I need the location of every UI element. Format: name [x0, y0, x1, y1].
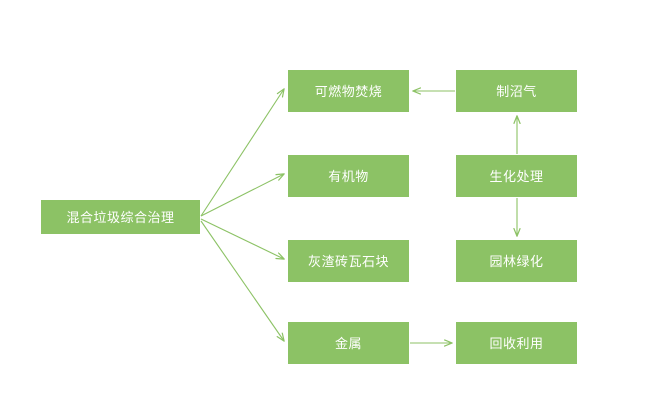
edge-mixed-waste-to-combustible — [201, 89, 284, 216]
node-mixed-waste[interactable]: 混合垃圾综合治理 — [41, 200, 200, 234]
node-organic-matter[interactable]: 有机物 — [288, 155, 409, 197]
node-biogas-production[interactable]: 制沼气 — [456, 70, 577, 112]
node-combustible-incineration[interactable]: 可燃物焚烧 — [288, 70, 409, 112]
edge-mixed-waste-to-metal — [201, 221, 284, 341]
node-metal[interactable]: 金属 — [288, 322, 409, 364]
edge-mixed-waste-to-organic — [201, 174, 284, 216]
node-label-ash-brick-tile-stone: 灰渣砖瓦石块 — [308, 255, 389, 268]
node-label-biochemical-treatment: 生化处理 — [489, 170, 543, 183]
node-label-metal: 金属 — [335, 337, 362, 350]
node-ash-brick-tile-stone[interactable]: 灰渣砖瓦石块 — [288, 240, 409, 282]
node-label-biogas-production: 制沼气 — [496, 85, 537, 98]
edge-mixed-waste-to-ash — [201, 219, 284, 259]
node-landscaping[interactable]: 园林绿化 — [456, 240, 577, 282]
node-label-organic-matter: 有机物 — [328, 170, 369, 183]
flowchart-diagram: 混合垃圾综合治理 可燃物焚烧 制沼气 有机物 生化处理 灰渣砖瓦石块 园林绿化 … — [0, 0, 648, 416]
node-label-mixed-waste: 混合垃圾综合治理 — [66, 211, 174, 224]
node-label-landscaping: 园林绿化 — [489, 255, 543, 268]
node-label-combustible-incineration: 可燃物焚烧 — [315, 85, 383, 98]
node-recycling-reuse[interactable]: 回收利用 — [456, 322, 577, 364]
node-label-recycling-reuse: 回收利用 — [489, 337, 543, 350]
node-biochemical-treatment[interactable]: 生化处理 — [456, 155, 577, 197]
